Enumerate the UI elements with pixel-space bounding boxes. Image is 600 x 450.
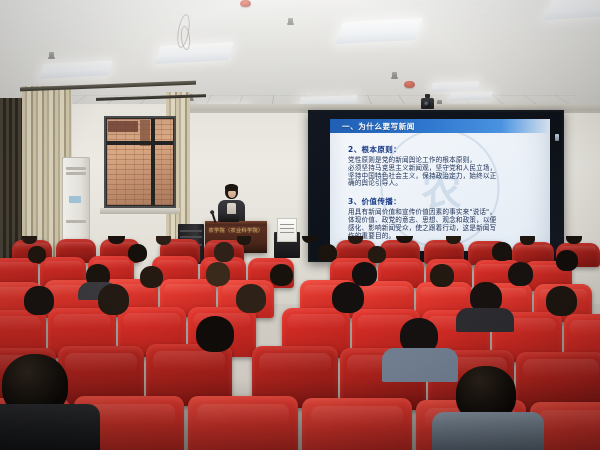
sprinkler-head-icon	[392, 72, 397, 79]
window-sill	[100, 208, 180, 214]
audience-head	[556, 250, 578, 271]
sprinkler-head-icon	[288, 18, 293, 25]
ceiling-light-panel	[335, 18, 422, 44]
ceiling-light-panel	[154, 42, 233, 64]
audience-head	[236, 284, 266, 313]
lecture-hall-photo: 农 一、为什么要写新闻 2、根本原则： 党性原则是党的新闻舆论工作的根本原则， …	[0, 0, 600, 450]
audience-head	[352, 262, 377, 286]
audience-head	[270, 264, 293, 286]
sprinkler-head-icon	[49, 52, 54, 59]
podium-sign-text: 农学院（农业科学院）	[205, 227, 267, 234]
ac-vent	[66, 220, 87, 223]
ceiling-light-panel	[39, 60, 112, 79]
speaker-hair	[225, 184, 238, 191]
audience-head	[546, 286, 577, 316]
audience-head	[332, 282, 364, 313]
slide-canvas: 农 一、为什么要写新闻 2、根本原则： 党性原则是党的新闻舆论工作的根本原则， …	[330, 119, 550, 251]
audience-head	[430, 264, 454, 287]
audience-head	[302, 236, 318, 243]
smoke-detector-icon	[404, 81, 415, 88]
audience-shoulders	[456, 308, 514, 332]
slide-block-heading: 2、根本原则：	[348, 144, 536, 155]
audience-shoulders-foreground	[432, 412, 544, 450]
slide-title: 一、为什么要写新闻	[330, 121, 415, 132]
slide-block-line: 确的舆论引导人。	[348, 180, 536, 188]
ac-vent	[66, 172, 87, 175]
ceiling-light-panel	[449, 91, 493, 100]
audience-head	[28, 246, 46, 263]
laptop	[219, 214, 239, 222]
ac-display-panel	[69, 196, 81, 203]
conference-camera-icon	[421, 98, 434, 109]
slide-block: 3、价值传播： 用具有新闻价值和宣传价值因素的事实来"说话"， 体现价值、政党的…	[348, 196, 536, 240]
poster-line	[280, 228, 294, 229]
audience-head	[318, 244, 337, 262]
audience-head	[140, 266, 163, 288]
audience-head	[492, 242, 512, 261]
audience-head	[128, 244, 147, 262]
audience-head	[24, 286, 54, 315]
window-mullion-horizontal	[107, 141, 173, 145]
seat	[302, 398, 412, 450]
ac-vent	[66, 167, 87, 170]
audience-head	[206, 262, 230, 286]
seat	[188, 396, 298, 450]
poster-line	[280, 224, 294, 225]
slide-block-heading: 3、价值传播：	[348, 196, 536, 207]
audience-head	[237, 236, 251, 245]
slide-body: 2、根本原则： 党性原则是党的新闻舆论工作的根本原则， 必须坚持马克思主义新闻观…	[330, 133, 550, 251]
window	[104, 116, 176, 208]
screen-status-led	[555, 134, 559, 141]
rack-slot	[180, 230, 202, 232]
audience-shoulders	[382, 348, 458, 382]
poster-line	[280, 232, 294, 233]
smoke-detector-icon	[240, 0, 251, 7]
audience-head	[214, 242, 234, 262]
audience-shoulders-foreground	[0, 404, 100, 450]
audience-head	[98, 284, 129, 315]
window-mullion-vertical	[151, 119, 155, 205]
slide-block: 2、根本原则： 党性原则是党的新闻舆论工作的根本原则， 必须坚持马克思主义新闻观…	[348, 144, 536, 188]
ceiling-light-panel	[543, 0, 600, 20]
slide-title-bar: 一、为什么要写新闻	[330, 119, 550, 133]
exterior-dark-band	[108, 121, 138, 132]
audience-head	[196, 316, 234, 352]
audience-head	[368, 246, 386, 263]
ceiling-light-panel	[431, 81, 480, 92]
audience-seating	[0, 236, 600, 450]
audience-head	[508, 262, 533, 286]
